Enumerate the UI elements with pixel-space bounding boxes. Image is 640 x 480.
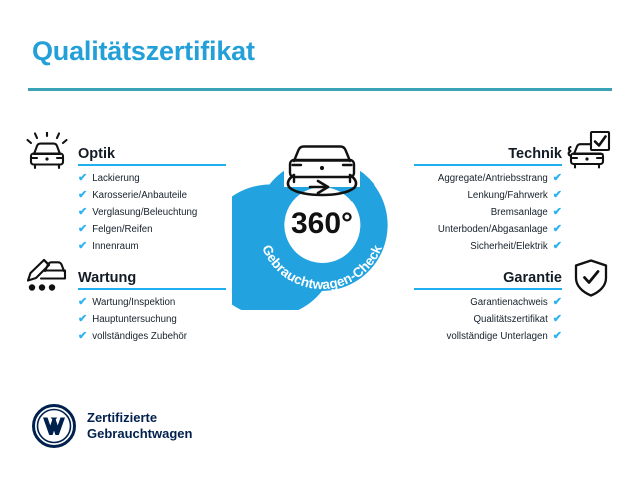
list-item-label: Innenraum bbox=[92, 242, 138, 252]
list-item: Unterboden/Abgasanlage ✔ bbox=[414, 224, 562, 235]
check-icon: ✔ bbox=[78, 224, 87, 235]
footer-line-1: Zertifizierte bbox=[87, 410, 192, 426]
check-icon: ✔ bbox=[553, 173, 562, 184]
section-garantie: Garantie Garantienachweis ✔ Qualitätszer… bbox=[414, 264, 562, 348]
check-icon: ✔ bbox=[78, 331, 87, 342]
check-icon: ✔ bbox=[553, 241, 562, 252]
check-icon: ✔ bbox=[78, 207, 87, 218]
car-shine-icon bbox=[24, 132, 70, 172]
check-icon: ✔ bbox=[78, 297, 87, 308]
list-item-label: Unterboden/Abgasanlage bbox=[438, 225, 548, 235]
section-wartung: Wartung ✔ Wartung/Inspektion ✔ Hauptunte… bbox=[78, 264, 226, 348]
check-icon: ✔ bbox=[553, 190, 562, 201]
list-item: Lenkung/Fahrwerk ✔ bbox=[414, 190, 562, 201]
360-gebrauchtwagen-check-badge: 360° Gebrauchtwagen-Check bbox=[232, 125, 412, 310]
list-item-label: Karosserie/Anbauteile bbox=[92, 191, 187, 201]
list-item: ✔ Lackierung bbox=[78, 173, 226, 184]
list-item: vollständige Unterlagen ✔ bbox=[414, 331, 562, 342]
section-items-technik: Aggregate/Antriebsstrang ✔ Lenkung/Fahrw… bbox=[414, 173, 562, 252]
list-item: Sicherheit/Elektrik ✔ bbox=[414, 241, 562, 252]
list-item: ✔ Wartung/Inspektion bbox=[78, 297, 226, 308]
check-icon: ✔ bbox=[78, 190, 87, 201]
check-icon: ✔ bbox=[553, 314, 562, 325]
list-item-label: Wartung/Inspektion bbox=[92, 298, 175, 308]
shield-check-icon bbox=[568, 258, 614, 298]
list-item-label: Qualitätszertifikat bbox=[473, 315, 547, 325]
footer-brand: Zertifizierte Gebrauchtwagen bbox=[32, 404, 192, 448]
section-divider-garantie bbox=[414, 288, 562, 290]
footer-line-2: Gebrauchtwagen bbox=[87, 426, 192, 442]
section-divider-optik bbox=[78, 164, 226, 166]
footer-text: Zertifizierte Gebrauchtwagen bbox=[87, 410, 192, 443]
check-icon: ✔ bbox=[78, 314, 87, 325]
list-item-label: Lackierung bbox=[92, 174, 139, 184]
section-header-garantie: Garantie bbox=[414, 264, 562, 290]
check-icon: ✔ bbox=[553, 207, 562, 218]
qualitaetszertifikat-page: Qualitätszertifikat Optik ✔ Lackierung ✔ bbox=[0, 0, 640, 480]
section-divider-technik bbox=[414, 164, 562, 166]
check-icon: ✔ bbox=[553, 297, 562, 308]
section-items-wartung: ✔ Wartung/Inspektion ✔ Hauptuntersuchung… bbox=[78, 297, 226, 342]
list-item: ✔ Karosserie/Anbauteile bbox=[78, 190, 226, 201]
list-item: Bremsanlage ✔ bbox=[414, 207, 562, 218]
list-item: ✔ Hauptuntersuchung bbox=[78, 314, 226, 325]
section-header-technik: Technik bbox=[414, 140, 562, 166]
section-items-optik: ✔ Lackierung ✔ Karosserie/Anbauteile ✔ V… bbox=[78, 173, 226, 252]
list-item-label: Sicherheit/Elektrik bbox=[470, 242, 548, 252]
section-divider-wartung bbox=[78, 288, 226, 290]
list-item: ✔ Innenraum bbox=[78, 241, 226, 252]
check-icon: ✔ bbox=[553, 331, 562, 342]
section-technik: Technik Aggregate/Antriebsstrang ✔ Lenku… bbox=[414, 140, 562, 258]
section-title-wartung: Wartung bbox=[78, 270, 136, 286]
list-item: ✔ vollständiges Zubehör bbox=[78, 331, 226, 342]
list-item: Aggregate/Antriebsstrang ✔ bbox=[414, 173, 562, 184]
list-item: ✔ Verglasung/Beleuchtung bbox=[78, 207, 226, 218]
list-item-label: Felgen/Reifen bbox=[92, 225, 152, 235]
list-item-label: vollständige Unterlagen bbox=[447, 332, 548, 342]
service-pen-car-icon bbox=[24, 256, 70, 296]
badge-center-label: 360° bbox=[291, 207, 353, 240]
section-title-optik: Optik bbox=[78, 146, 115, 162]
list-item-label: Hauptuntersuchung bbox=[92, 315, 177, 325]
vw-logo-icon bbox=[32, 404, 76, 448]
list-item-label: Lenkung/Fahrwerk bbox=[468, 191, 548, 201]
section-header-wartung: Wartung bbox=[78, 264, 226, 290]
page-title: Qualitätszertifikat bbox=[32, 36, 255, 67]
section-items-garantie: Garantienachweis ✔ Qualitätszertifikat ✔… bbox=[414, 297, 562, 342]
check-icon: ✔ bbox=[78, 241, 87, 252]
list-item-label: Bremsanlage bbox=[491, 208, 548, 218]
list-item-label: Garantienachweis bbox=[470, 298, 548, 308]
check-icon: ✔ bbox=[78, 173, 87, 184]
list-item: Qualitätszertifikat ✔ bbox=[414, 314, 562, 325]
list-item-label: Verglasung/Beleuchtung bbox=[92, 208, 197, 218]
section-optik: Optik ✔ Lackierung ✔ Karosserie/Anbautei… bbox=[78, 140, 226, 258]
list-item-label: Aggregate/Antriebsstrang bbox=[438, 174, 548, 184]
section-header-optik: Optik bbox=[78, 140, 226, 166]
list-item: ✔ Felgen/Reifen bbox=[78, 224, 226, 235]
list-item-label: vollständiges Zubehör bbox=[92, 332, 187, 342]
car-checkbox-icon bbox=[566, 130, 612, 170]
list-item: Garantienachweis ✔ bbox=[414, 297, 562, 308]
section-title-garantie: Garantie bbox=[503, 270, 562, 286]
check-icon: ✔ bbox=[553, 224, 562, 235]
section-title-technik: Technik bbox=[508, 146, 562, 162]
title-divider bbox=[28, 88, 612, 91]
